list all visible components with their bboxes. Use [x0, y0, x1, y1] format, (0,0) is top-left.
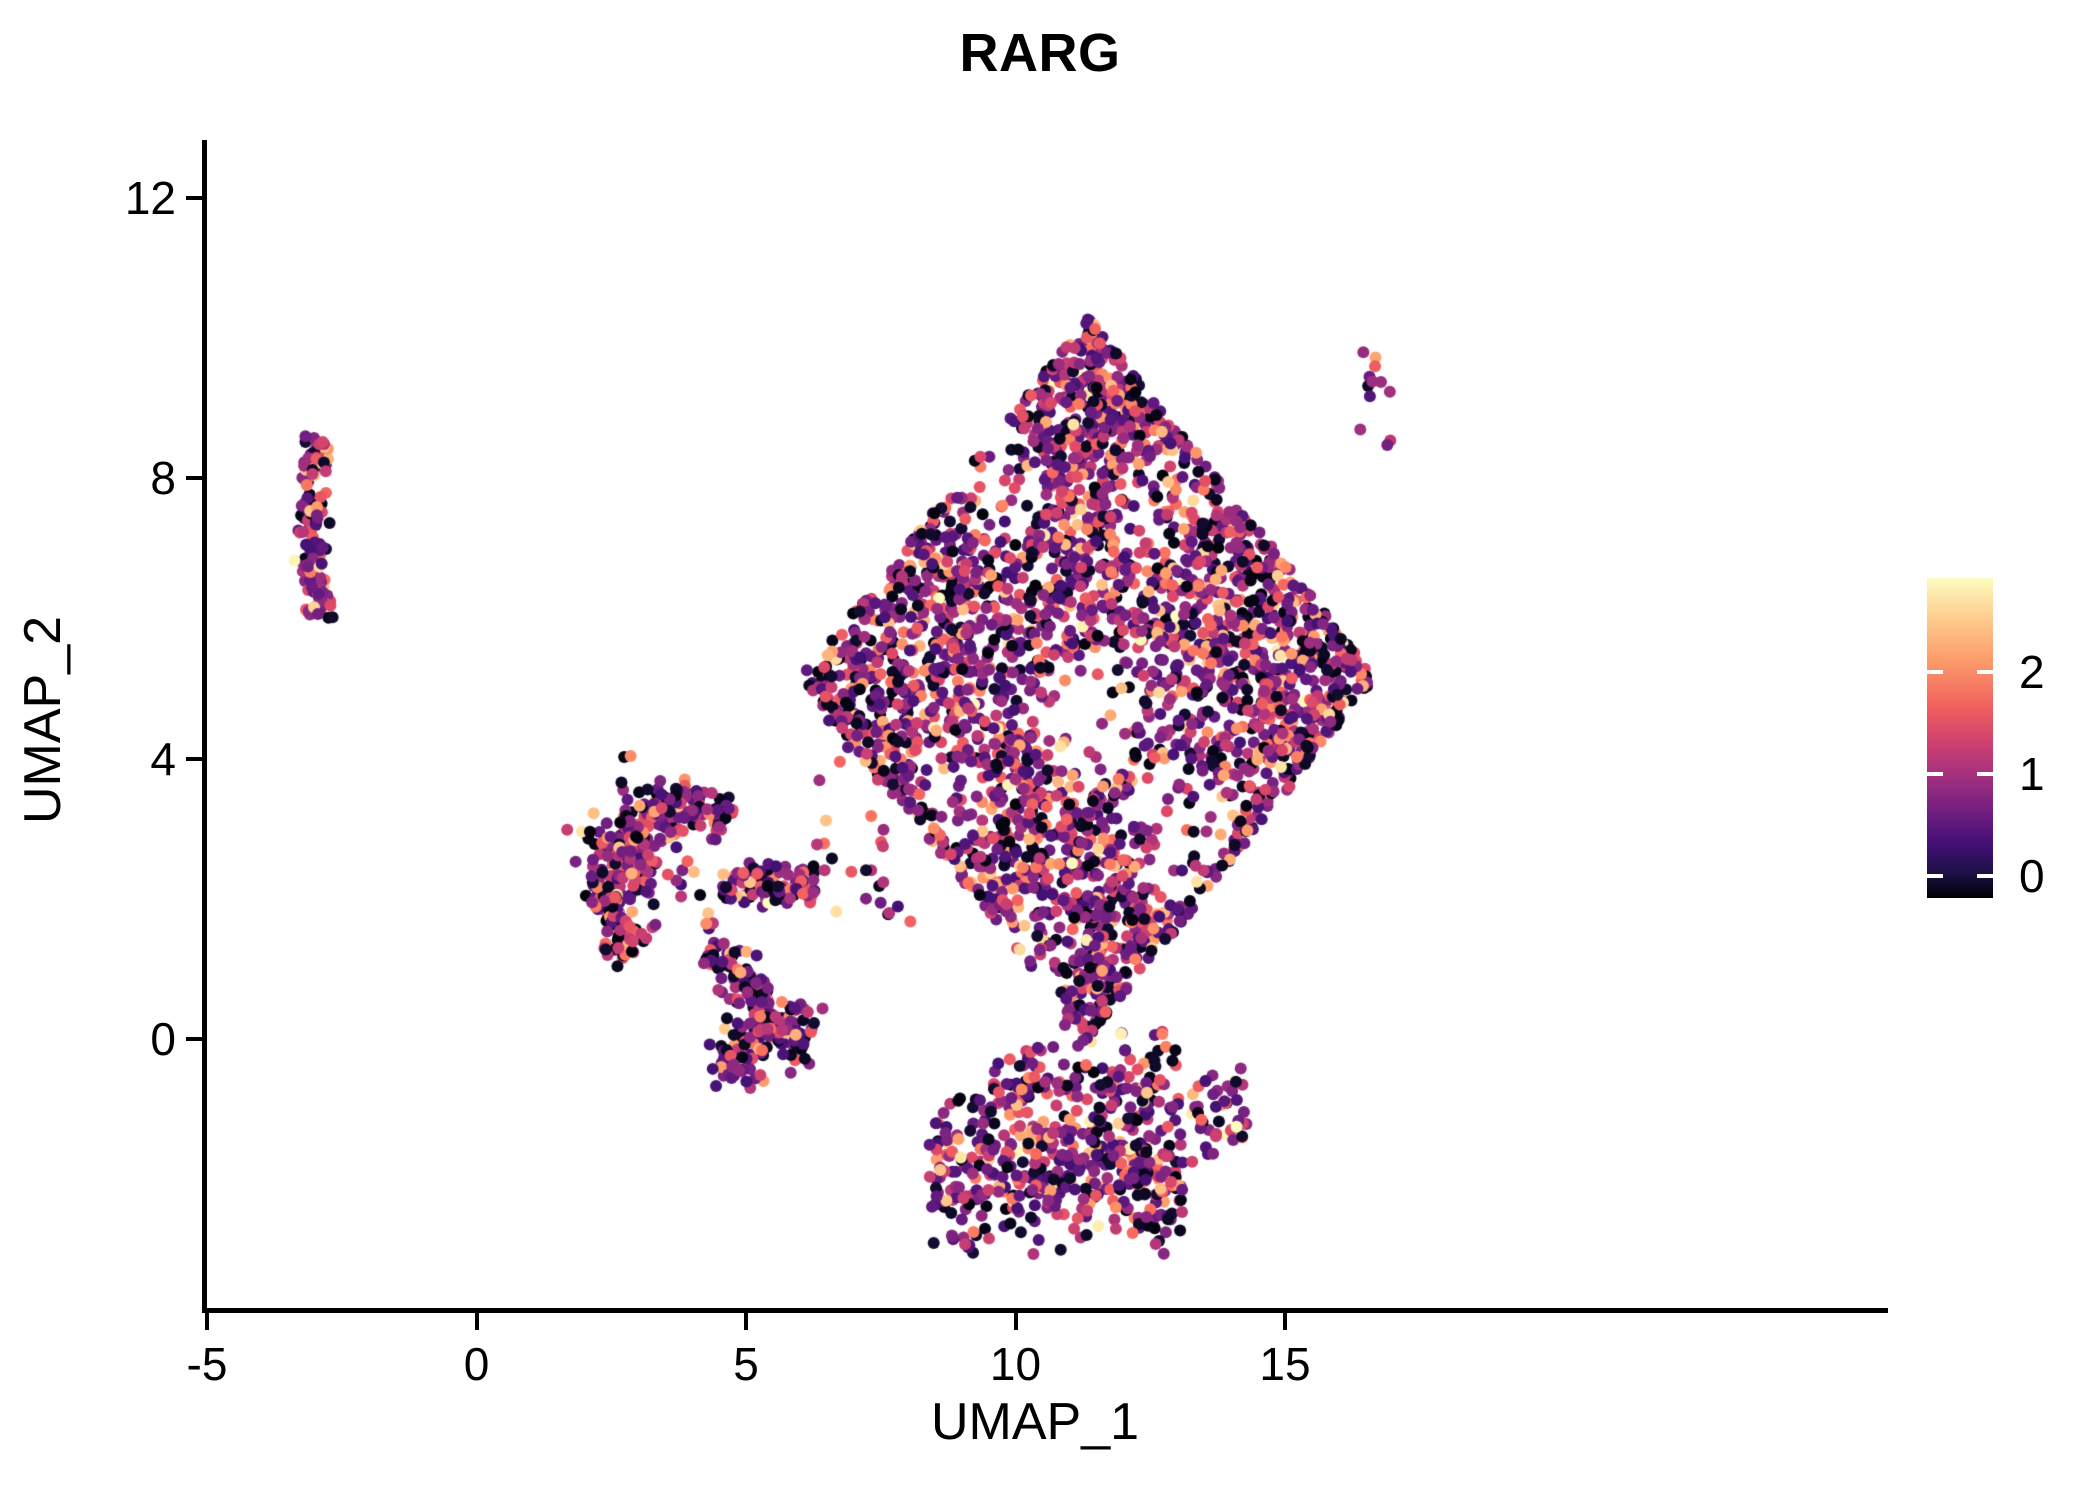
x-tick-label: -5 [187, 1337, 228, 1391]
y-tick-mark [186, 196, 203, 200]
colorbar-tick-mark [1977, 772, 1993, 776]
x-tick-mark [205, 1313, 209, 1330]
y-tick-mark [186, 1037, 203, 1041]
colorbar-tick-label: 2 [2019, 645, 2045, 699]
x-tick-label: 0 [464, 1337, 490, 1391]
umap-feature-plot: RARG -5051015 04812 UMAP_1 UMAP_2 012 [0, 0, 2100, 1500]
y-tick-label: 8 [150, 451, 176, 505]
y-tick-label: 4 [150, 732, 176, 786]
y-tick-label: 0 [150, 1012, 176, 1066]
colorbar-tick-label: 1 [2019, 747, 2045, 801]
x-axis-label: UMAP_1 [0, 1392, 2070, 1452]
x-tick-label: 10 [990, 1337, 1041, 1391]
colorbar-tick-label: 0 [2019, 849, 2045, 903]
x-tick-mark [475, 1313, 479, 1330]
y-axis-line [202, 140, 207, 1313]
colorbar-tick-mark [1977, 670, 1993, 674]
x-tick-mark [1014, 1313, 1018, 1330]
colorbar-legend: 012 [1927, 578, 1993, 898]
colorbar-gradient [1927, 578, 1993, 898]
x-tick-label: 5 [733, 1337, 759, 1391]
page-title: RARG [0, 22, 2080, 84]
colorbar-tick-mark [1927, 772, 1943, 776]
x-axis-line [207, 1308, 1888, 1313]
x-tick-mark [744, 1313, 748, 1330]
scatter-points-layer [207, 140, 1888, 1310]
x-tick-label: 15 [1259, 1337, 1310, 1391]
colorbar-tick-mark [1927, 670, 1943, 674]
colorbar-tick-mark [1977, 874, 1993, 878]
x-tick-mark [1283, 1313, 1287, 1330]
y-axis-label: UMAP_2 [13, 390, 73, 1050]
y-tick-mark [186, 476, 203, 480]
y-tick-mark [186, 757, 203, 761]
colorbar-tick-mark [1927, 874, 1943, 878]
y-tick-label: 12 [125, 171, 176, 225]
